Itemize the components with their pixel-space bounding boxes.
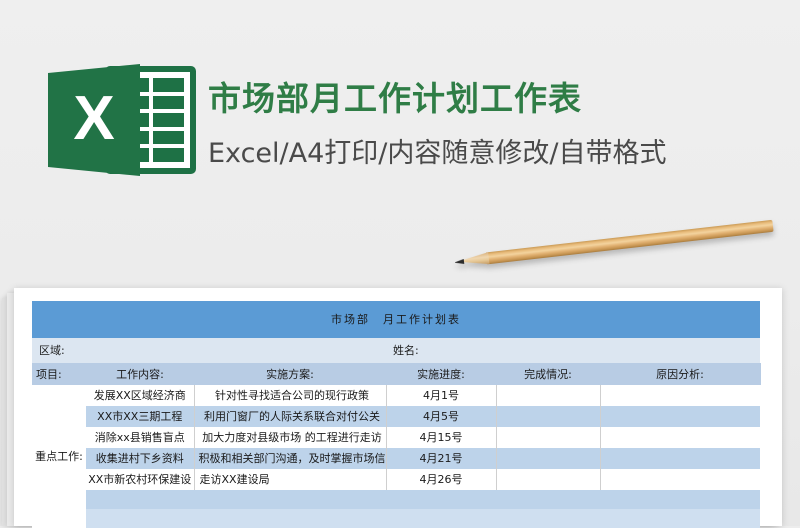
screenshot-root: X 市场部月工作计划工作表 Excel/A4打印/内容随意修改/自带格式 市场部… xyxy=(0,0,800,526)
cell-work-content[interactable]: 消除xx县销售盲点 xyxy=(86,427,194,448)
region-label: 区域: xyxy=(32,338,386,363)
col-header-project: 项目: xyxy=(32,363,86,385)
cell-reason[interactable] xyxy=(600,406,760,427)
col-header-completion: 完成情况: xyxy=(496,363,600,385)
name-label: 姓名: xyxy=(386,338,760,363)
cell-work-content[interactable]: XX市XX三期工程 xyxy=(86,406,194,427)
cell-reason[interactable] xyxy=(600,448,760,469)
table-row[interactable]: XX市XX三期工程 利用门窗厂的人际关系联合对付公关 4月5号 xyxy=(32,406,760,427)
promo-banner: X 市场部月工作计划工作表 Excel/A4打印/内容随意修改/自带格式 xyxy=(0,0,800,245)
cell-implementation-plan[interactable]: 利用门窗厂的人际关系联合对付公关 xyxy=(194,406,386,427)
col-header-reason-analysis: 原因分析: xyxy=(600,363,760,385)
promo-title: 市场部月工作计划工作表 xyxy=(208,72,582,120)
cell-implementation-plan[interactable]: 加大力度对县级市场 的工程进行走访 xyxy=(194,427,386,448)
table-row-empty[interactable] xyxy=(32,509,760,528)
empty-cell[interactable] xyxy=(86,490,760,509)
cell-progress[interactable]: 4月21号 xyxy=(386,448,496,469)
pencil-wood xyxy=(460,252,489,267)
cell-completion[interactable] xyxy=(496,406,600,427)
pencil-tip xyxy=(455,259,465,265)
cell-reason[interactable] xyxy=(600,469,760,490)
cell-implementation-plan[interactable]: 积极和相关部门沟通，及时掌握市场信息 xyxy=(194,448,386,469)
table-meta-row: 区域: 姓名: xyxy=(32,338,760,363)
col-header-progress: 实施进度: xyxy=(386,363,496,385)
promo-subtitle: Excel/A4打印/内容随意修改/自带格式 xyxy=(208,131,666,170)
cell-work-content[interactable]: 发展XX区域经济商 xyxy=(86,385,194,406)
cell-reason[interactable] xyxy=(600,385,760,406)
cell-implementation-plan[interactable]: 走访XX建设局 xyxy=(194,469,386,490)
table-row-empty[interactable] xyxy=(32,490,760,509)
cell-work-content[interactable]: 收集进村下乡资料 xyxy=(86,448,194,469)
cell-completion[interactable] xyxy=(496,427,600,448)
col-header-work-content: 工作内容: xyxy=(86,363,194,385)
cell-implementation-plan[interactable]: 针对性寻找适合公司的现行政策 xyxy=(194,385,386,406)
cell-progress[interactable]: 4月5号 xyxy=(386,406,496,427)
worksheet-card: 市场部 月工作计划表 区域: 姓名: 项目: 工作内容: 实施方案: 实施进度:… xyxy=(14,288,782,526)
cell-progress[interactable]: 4月26号 xyxy=(386,469,496,490)
table-row[interactable]: 重点工作: 发展XX区域经济商 针对性寻找适合公司的现行政策 4月1号 xyxy=(32,385,760,406)
cell-progress[interactable]: 4月15号 xyxy=(386,427,496,448)
cell-completion[interactable] xyxy=(496,448,600,469)
cell-reason[interactable] xyxy=(600,427,760,448)
table-header-row: 项目: 工作内容: 实施方案: 实施进度: 完成情况: 原因分析: xyxy=(32,363,760,385)
excel-logo: X xyxy=(48,64,196,176)
work-plan-table: 市场部 月工作计划表 区域: 姓名: 项目: 工作内容: 实施方案: 实施进度:… xyxy=(32,301,761,528)
cell-progress[interactable]: 4月1号 xyxy=(386,385,496,406)
cell-work-content[interactable]: XX市新农村环保建设 xyxy=(86,469,194,490)
table-row[interactable]: XX市新农村环保建设 走访XX建设局 4月26号 xyxy=(32,469,760,490)
empty-cell[interactable] xyxy=(86,509,760,528)
table-row[interactable]: 收集进村下乡资料 积极和相关部门沟通，及时掌握市场信息 4月21号 xyxy=(32,448,760,469)
col-header-implementation-plan: 实施方案: xyxy=(194,363,386,385)
excel-logo-letter: X xyxy=(48,64,140,176)
cell-completion[interactable] xyxy=(496,385,600,406)
cell-completion[interactable] xyxy=(496,469,600,490)
table-title-row: 市场部 月工作计划表 xyxy=(32,301,760,338)
category-cell: 重点工作: xyxy=(32,385,86,528)
table-row[interactable]: 消除xx县销售盲点 加大力度对县级市场 的工程进行走访 4月15号 xyxy=(32,427,760,448)
table-title: 市场部 月工作计划表 xyxy=(32,301,760,338)
